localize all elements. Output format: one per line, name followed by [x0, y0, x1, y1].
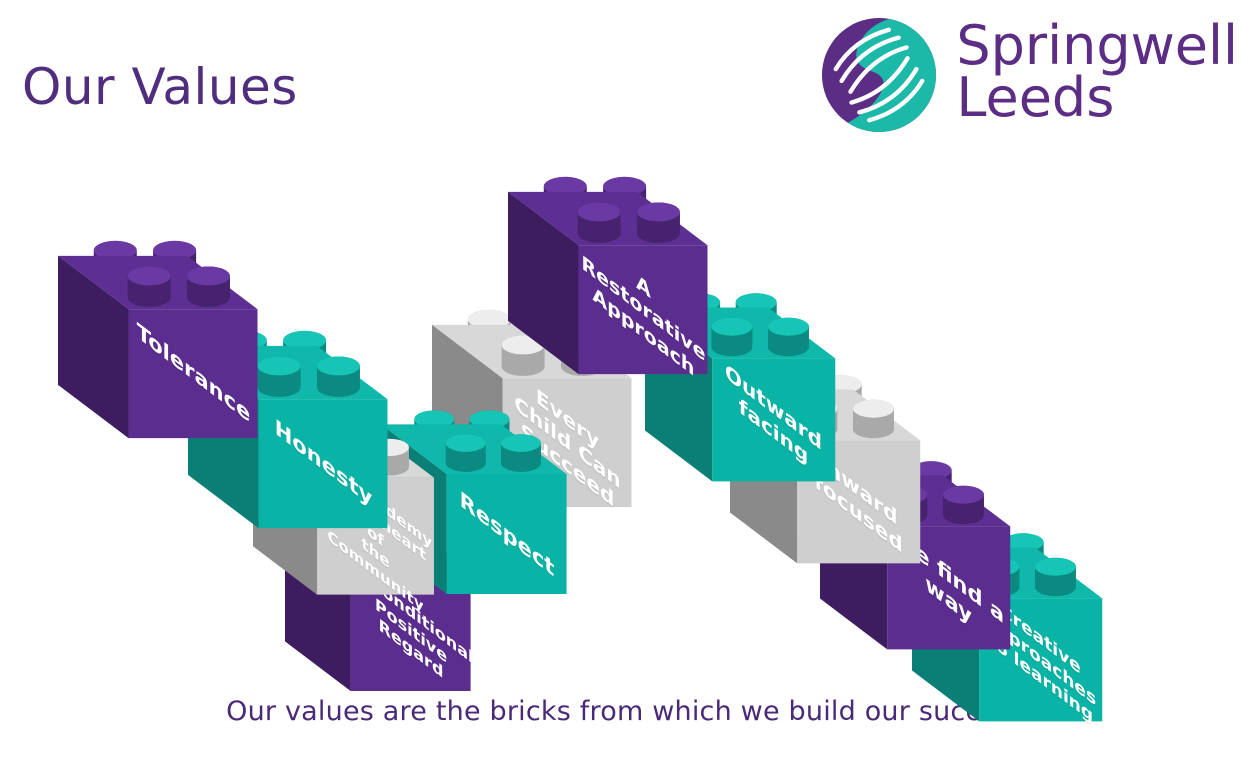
value-brick-restorative: A Restorative Approach [508, 142, 768, 392]
brand-wordmark: Springwell Leeds [956, 20, 1238, 131]
brand-logo: Springwell Leeds [820, 16, 1238, 134]
values-brick-diagram: ToleranceHonestyOur Academy at the heart… [0, 120, 1252, 680]
value-brick-tolerance: Tolerance [58, 206, 318, 456]
brand-name-line-2: Leeds [956, 72, 1238, 124]
springwell-circle-hands-logo [820, 16, 938, 134]
brand-name-line-1: Springwell [956, 20, 1238, 72]
page-title: Our Values [22, 58, 298, 116]
